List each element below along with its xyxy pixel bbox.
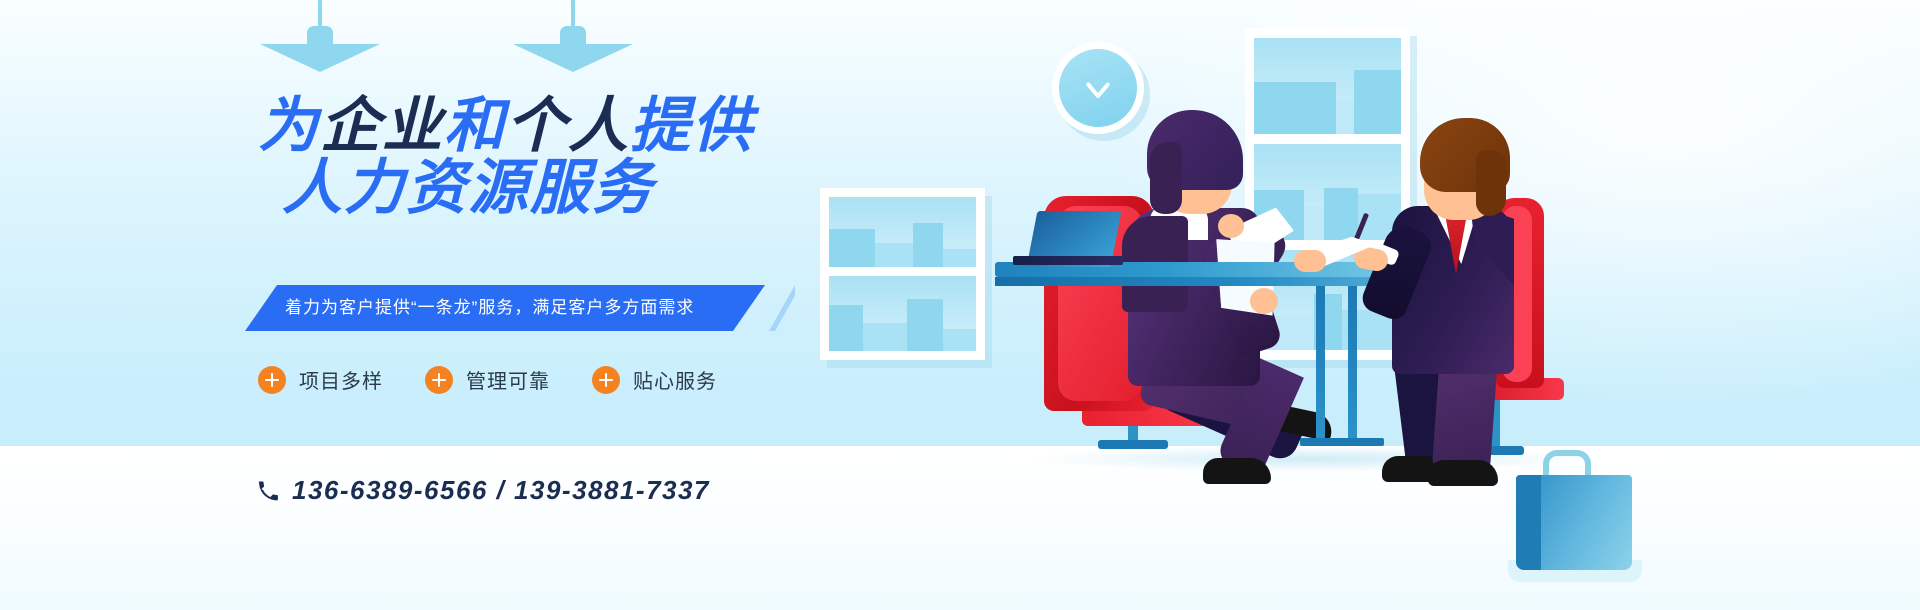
contact-phone[interactable]: 136-6389-6566 / 139-3881-7337 — [258, 475, 710, 506]
headline-part-4: 个人 — [506, 92, 630, 159]
text-content-block: 为企业和个人提供 人力资源服务 着力为客户提供“一条龙”服务，满足客户多方面需求… — [0, 0, 900, 610]
phone-icon — [258, 481, 278, 501]
desk-foot — [1300, 438, 1344, 446]
headline-part-5: 提供 — [630, 92, 754, 159]
desk-edge — [995, 277, 1377, 286]
chair-base-left — [1098, 440, 1168, 449]
headline-part-3: 和 — [444, 92, 506, 159]
desk-leg — [1348, 286, 1357, 441]
headline-line-2: 人力资源服务 — [282, 158, 654, 218]
headline-part-2: 企业 — [320, 92, 444, 159]
person-left-hair-sweep — [1150, 142, 1182, 214]
plus-icon — [592, 366, 620, 394]
headline-part-1: 为 — [258, 92, 320, 159]
wall-clock-icon — [1052, 42, 1144, 134]
feature-label: 管理可靠 — [466, 365, 550, 394]
feature-label: 贴心服务 — [633, 365, 717, 394]
person-right-hair-sweep — [1476, 150, 1506, 216]
feature-item-3[interactable]: 贴心服务 — [592, 365, 717, 394]
desk-leg — [1316, 286, 1325, 441]
subtitle-ribbon-tail — [769, 285, 795, 331]
feature-item-2[interactable]: 管理可靠 — [425, 365, 550, 394]
subtitle-text: 着力为客户提供“一条龙”服务，满足客户多方面需求 — [285, 285, 694, 331]
page-title: 为企业和个人提供 人力资源服务 — [258, 96, 878, 156]
person-left-hand-upper — [1218, 214, 1244, 238]
desk-foot — [1340, 438, 1384, 446]
hr-service-banner: 为企业和个人提供 人力资源服务 着力为客户提供“一条龙”服务，满足客户多方面需求… — [0, 0, 1920, 610]
plus-icon — [258, 366, 286, 394]
phone-number: 136-6389-6566 / 139-3881-7337 — [292, 475, 710, 506]
plus-icon — [425, 366, 453, 394]
feature-label: 项目多样 — [299, 365, 383, 394]
person-left-shoe-front — [1203, 458, 1271, 484]
feature-item-1[interactable]: 项目多样 — [258, 365, 383, 394]
laptop-base — [1013, 256, 1123, 265]
briefcase-side — [1516, 475, 1541, 570]
person-right-shoe-front — [1428, 460, 1498, 486]
person-left-hand-lower — [1250, 288, 1278, 314]
feature-list: 项目多样 管理可靠 贴心服务 — [258, 365, 717, 394]
person-right-hand-left — [1294, 250, 1326, 272]
